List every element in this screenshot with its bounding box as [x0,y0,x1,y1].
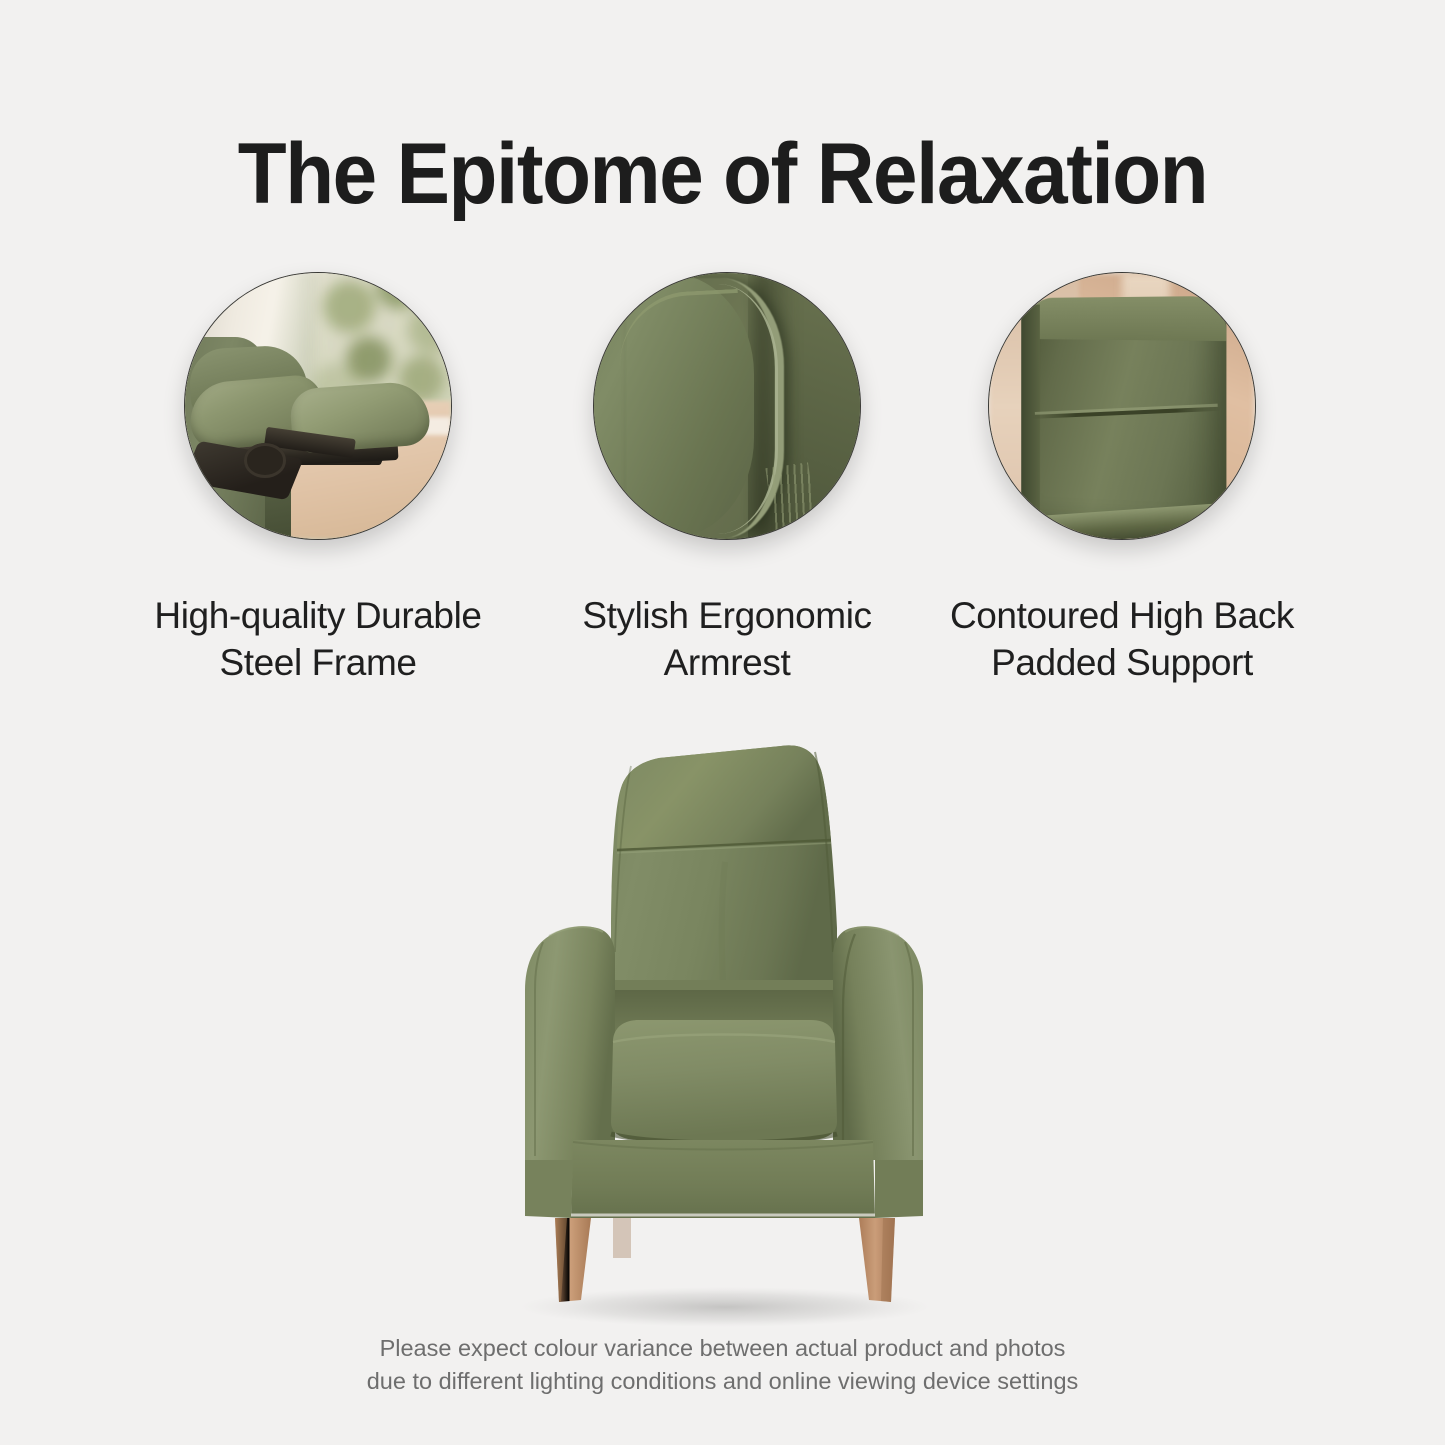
feature-label-2: Stylish Ergonomic Armrest [517,592,937,687]
product-image-stage [0,690,1445,1330]
footrest-steel-mechanism-photo [184,272,452,540]
feature-label-3-line1: Contoured High Back [912,592,1332,639]
feature-highlights-row: High-quality Durable Steel Frame Stylish… [0,272,1445,692]
recliner-armchair-photo [463,690,983,1330]
feature-durable-steel-frame: High-quality Durable Steel Frame [108,272,528,687]
feature-label-1-line1: High-quality Durable [108,592,528,639]
feature-ergonomic-armrest: Stylish Ergonomic Armrest [517,272,937,687]
feature-image-2-wrap [593,272,861,540]
feature-label-2-line1: Stylish Ergonomic [517,592,937,639]
disclaimer-line-1: Please expect colour variance between ac… [0,1332,1445,1365]
feature-label-3: Contoured High Back Padded Support [912,592,1332,687]
disclaimer-line-2: due to different lighting conditions and… [0,1365,1445,1398]
feature-label-1: High-quality Durable Steel Frame [108,592,528,687]
armrest-piping-photo [593,272,861,540]
page-title: The Epitome of Relaxation [51,131,1395,217]
feature-high-back-support: Contoured High Back Padded Support [912,272,1332,687]
feature-label-3-line2: Padded Support [912,639,1332,686]
feature-image-3-wrap [988,272,1256,540]
feature-label-2-line2: Armrest [517,639,937,686]
colour-variance-disclaimer: Please expect colour variance between ac… [0,1332,1445,1399]
high-back-cushion-photo [988,272,1256,540]
feature-image-1-wrap [184,272,452,540]
feature-label-1-line2: Steel Frame [108,639,528,686]
